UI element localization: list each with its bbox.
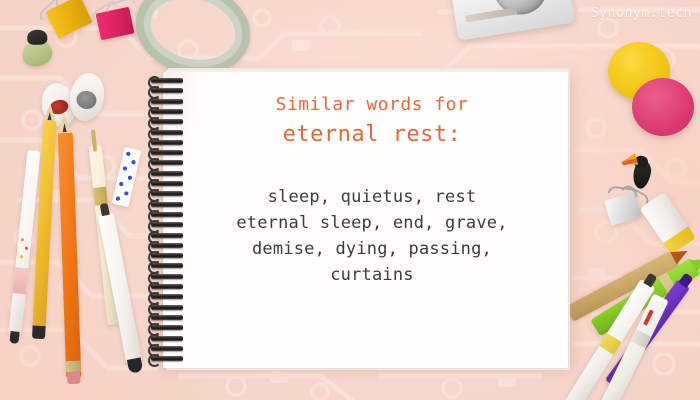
spiral-ring — [151, 78, 183, 83]
spiral-ring — [151, 160, 183, 165]
pencil-lead — [62, 123, 66, 132]
spiral-ring — [151, 325, 183, 330]
synonym-line: eternal sleep, end, grave, — [186, 210, 558, 236]
spiral-ring — [151, 233, 183, 238]
spiral-ring — [151, 119, 183, 124]
spiral-ring — [151, 253, 183, 258]
spiral-ring — [151, 336, 183, 341]
synonym-list: sleep, quietus, resteternal sleep, end, … — [186, 184, 558, 288]
desk-scene: Similar words for eternal rest: sleep, q… — [0, 0, 700, 400]
binder-clip-arm — [53, 0, 85, 7]
synonym-line: demise, dying, passing, — [186, 236, 558, 262]
note-text-block: Similar words for eternal rest: sleep, q… — [186, 92, 558, 288]
spiral-ring — [151, 274, 183, 279]
spiral-ring — [151, 294, 183, 299]
spiral-ring — [151, 171, 183, 176]
synonym-line: curtains — [186, 262, 558, 288]
spiral-ring — [151, 130, 183, 135]
pencil-eraser — [67, 372, 80, 384]
pencil-end-cap — [32, 326, 46, 340]
stone-gray-center — [75, 89, 98, 110]
pen-grip-band — [13, 267, 29, 294]
spiral-ring — [151, 305, 183, 310]
spiral-ring — [151, 356, 183, 361]
note-title-line-2: eternal rest: — [186, 120, 558, 150]
pen-pattern — [17, 235, 31, 266]
spiral-ring — [151, 181, 183, 186]
marker-label-stripe — [643, 309, 654, 325]
spiral-ring — [151, 284, 183, 289]
spiral-ring — [151, 212, 183, 217]
spiral-ring — [151, 263, 183, 268]
spiral-ring — [151, 99, 183, 104]
site-watermark: Synonym.tech — [591, 6, 692, 21]
spiral-binding — [148, 74, 190, 366]
spiral-ring — [151, 202, 183, 207]
spiral-ring — [151, 88, 183, 93]
spiral-ring — [151, 243, 183, 248]
synonym-line: sleep, quietus, rest — [186, 184, 558, 210]
bird-eraser-head — [27, 29, 48, 45]
spiral-ring — [151, 140, 183, 145]
spiral-ring — [151, 315, 183, 320]
camera-grip — [465, 7, 517, 22]
spiral-ring — [151, 346, 183, 351]
macaron-pink — [632, 78, 694, 136]
spiral-ring — [151, 191, 183, 196]
pencil-ferrule — [66, 361, 81, 373]
pencil-lead — [47, 112, 51, 120]
note-title-line-1: Similar words for — [186, 92, 558, 118]
spiral-ring — [151, 150, 183, 155]
spiral-ring — [151, 222, 183, 227]
spiral-ring — [151, 109, 183, 114]
